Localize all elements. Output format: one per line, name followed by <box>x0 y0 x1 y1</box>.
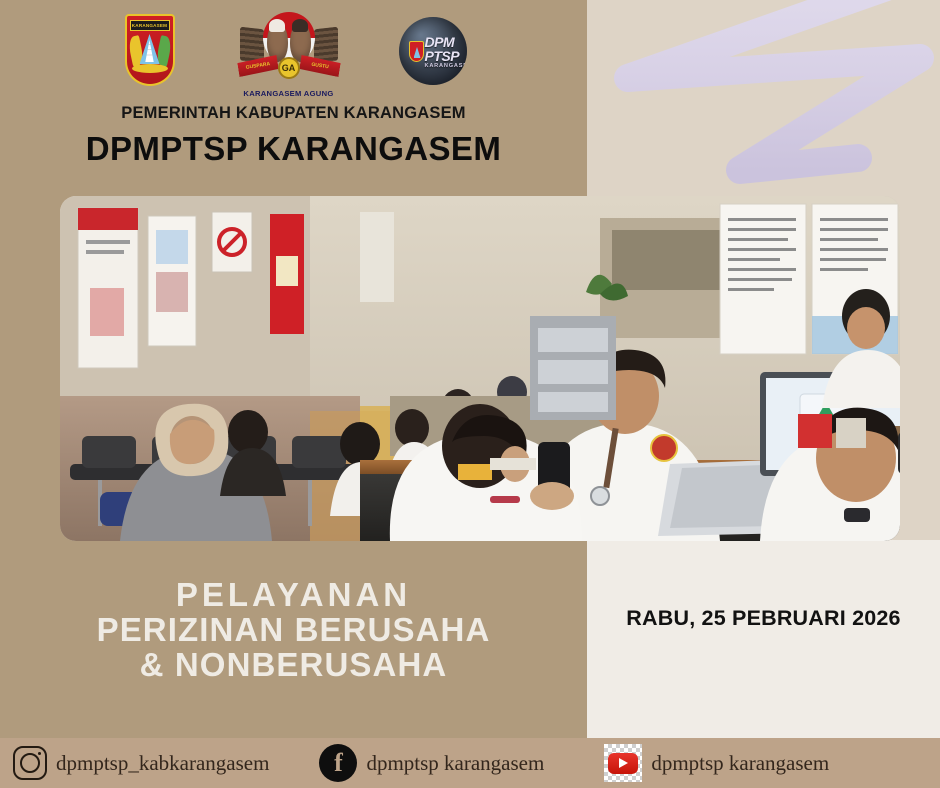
agung-caption: KARANGASEM AGUNG <box>234 89 344 98</box>
date-block: RABU, 25 PEBRUARI 2026 <box>587 606 940 631</box>
youtube-handle: dpmptsp karangasem <box>651 751 829 776</box>
event-date: RABU, 25 PEBRUARI 2026 <box>587 606 940 631</box>
facebook-icon[interactable] <box>319 744 357 782</box>
poster-header: KARANGASEM GUSPARA GUSTU GA KARANG <box>0 0 587 190</box>
karangasem-agung-emblem-icon: GUSPARA GUSTU GA KARANGASEM AGUNG <box>234 8 344 100</box>
headline-line-2: PERIZINAN BERUSAHA <box>0 613 587 648</box>
page-title: DPMPTSP KARANGASEM <box>0 130 587 168</box>
logo-row: KARANGASEM GUSPARA GUSTU GA KARANG <box>0 8 587 100</box>
dpmptsp-logo-line2: PTSP <box>425 49 467 63</box>
right-lower-panel <box>587 540 940 740</box>
headline-line-1: PELAYANAN <box>0 578 587 613</box>
kabupaten-karangasem-crest-icon: KARANGASEM <box>118 8 182 100</box>
crest-banner-label: KARANGASEM <box>130 20 170 31</box>
social-facebook[interactable]: dpmptsp karangasem <box>319 744 544 782</box>
government-line: PEMERINTAH KABUPATEN KARANGASEM <box>0 104 587 123</box>
youtube-icon[interactable] <box>604 744 642 782</box>
headline-line-3: & NONBERUSAHA <box>0 648 587 683</box>
instagram-handle: dpmptsp_kabkarangasem <box>56 751 269 776</box>
social-footer: dpmptsp_kabkarangasem dpmptsp karangasem… <box>0 738 940 788</box>
social-instagram[interactable]: dpmptsp_kabkarangasem <box>13 746 269 780</box>
social-youtube[interactable]: dpmptsp karangasem <box>604 744 829 782</box>
dpmptsp-logo-line1: DPM <box>425 35 467 49</box>
agung-emblem-initials: GA <box>278 57 300 79</box>
facebook-handle: dpmptsp karangasem <box>366 751 544 776</box>
instagram-icon[interactable] <box>13 746 47 780</box>
headline-block: PELAYANAN PERIZINAN BERUSAHA & NONBERUSA… <box>0 578 587 683</box>
dpmptsp-logo-icon: DPM PTSP KARANGASEM <box>396 8 470 100</box>
service-counter-photo <box>60 196 900 541</box>
poster-canvas: KARANGASEM GUSPARA GUSTU GA KARANG <box>0 0 940 788</box>
dpmptsp-logo-line3: KARANGASEM <box>425 64 467 70</box>
